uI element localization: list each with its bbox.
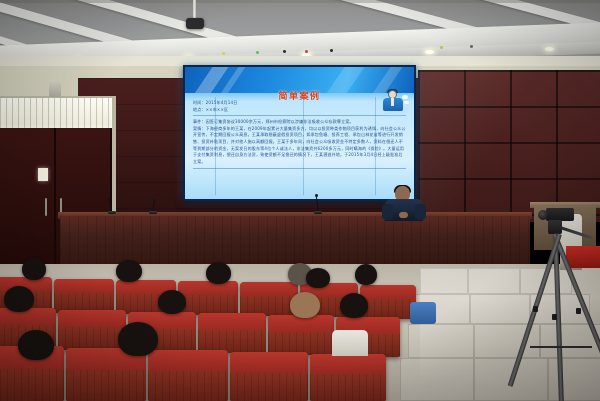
camera-lens-icon	[538, 210, 548, 220]
businessman-illustration-icon	[378, 89, 410, 119]
door-vision-panel	[38, 168, 48, 181]
downlight	[545, 47, 554, 51]
microphone-head	[107, 194, 110, 197]
presenter-arm-right	[415, 204, 426, 220]
audience-head	[22, 258, 46, 280]
door-handle[interactable]	[45, 198, 47, 216]
tripod-leg-lock[interactable]	[533, 306, 538, 312]
audience-seat[interactable]	[360, 285, 416, 319]
audience-head	[18, 330, 54, 360]
indicator-light	[256, 51, 259, 54]
audience-head	[306, 268, 330, 288]
projection-screen: 简单案例 时间：2015年4月14日 地点：××市××区 事件：因签订集资协议3…	[183, 65, 416, 201]
microphone-base	[149, 211, 157, 214]
audience-seat[interactable]	[310, 354, 386, 401]
microphone-head	[150, 197, 153, 200]
slide-line: 地点：××市××区	[193, 107, 406, 114]
audience-head	[158, 290, 186, 314]
audience-head	[118, 322, 158, 356]
audience-shirt	[410, 302, 436, 324]
audience-head	[340, 293, 368, 318]
downlight	[425, 50, 434, 54]
indicator-light	[330, 49, 333, 52]
wall-speaker-icon	[49, 82, 61, 97]
presenter	[382, 186, 426, 220]
tripod-leg-lock[interactable]	[576, 308, 581, 314]
camera-tripod[interactable]	[524, 196, 600, 401]
slide-line: 事件：因签订集资协议30000余万元，郑州市检察院以涉嫌非法吸收公众存款罪立案。	[193, 119, 406, 126]
presenter-arm-left	[382, 204, 393, 220]
audience-seat[interactable]	[54, 279, 114, 313]
door-center-split	[54, 128, 56, 266]
presentation-slide: 简单案例 时间：2015年4月14日 地点：××市××区 事件：因签订集资协议3…	[185, 67, 414, 199]
audience-seat[interactable]	[230, 352, 308, 401]
tripod-pan-handle[interactable]	[560, 226, 593, 239]
audience-head	[355, 264, 377, 285]
audience-shirt	[332, 330, 368, 356]
projector-mount-pole	[193, 0, 196, 20]
presenter-hands	[399, 212, 408, 218]
audience-head	[4, 286, 34, 312]
slide-body: 时间：2015年4月14日 地点：××市××区 事件：因签订集资协议30000余…	[193, 100, 406, 193]
slide-divider	[193, 168, 406, 169]
indicator-light	[222, 52, 225, 55]
audience-seat[interactable]	[148, 350, 228, 401]
audience-head	[116, 260, 142, 282]
conference-hall-scene: 简单案例 时间：2015年4月14日 地点：××市××区 事件：因签订集资协议3…	[0, 0, 600, 401]
audience-seat[interactable]	[268, 315, 334, 355]
slide-line: 时间：2015年4月14日	[193, 100, 406, 107]
indicator-light	[283, 50, 286, 53]
indicator-light	[440, 46, 443, 49]
microphone-base	[314, 211, 322, 214]
audience-seat[interactable]	[58, 310, 126, 350]
slide-divider	[193, 115, 406, 116]
microphone-base	[108, 211, 116, 214]
audience-seat[interactable]	[198, 313, 266, 353]
audience-head	[290, 292, 320, 318]
tripod-leg-lock[interactable]	[552, 314, 557, 320]
audience-seat[interactable]	[240, 282, 298, 316]
audience-head	[206, 262, 231, 284]
indicator-light	[305, 50, 308, 53]
tripod-spreader	[530, 346, 592, 348]
audience-seat[interactable]	[178, 281, 238, 315]
slide-line: 案情：下海经商多年的王某，在2009年起累计大量集资多方，均以以投资种类作物项目…	[193, 126, 406, 166]
microphone-head	[315, 194, 318, 197]
ceiling-projector	[186, 18, 204, 29]
transom-window	[0, 98, 112, 128]
indicator-light	[470, 45, 473, 48]
